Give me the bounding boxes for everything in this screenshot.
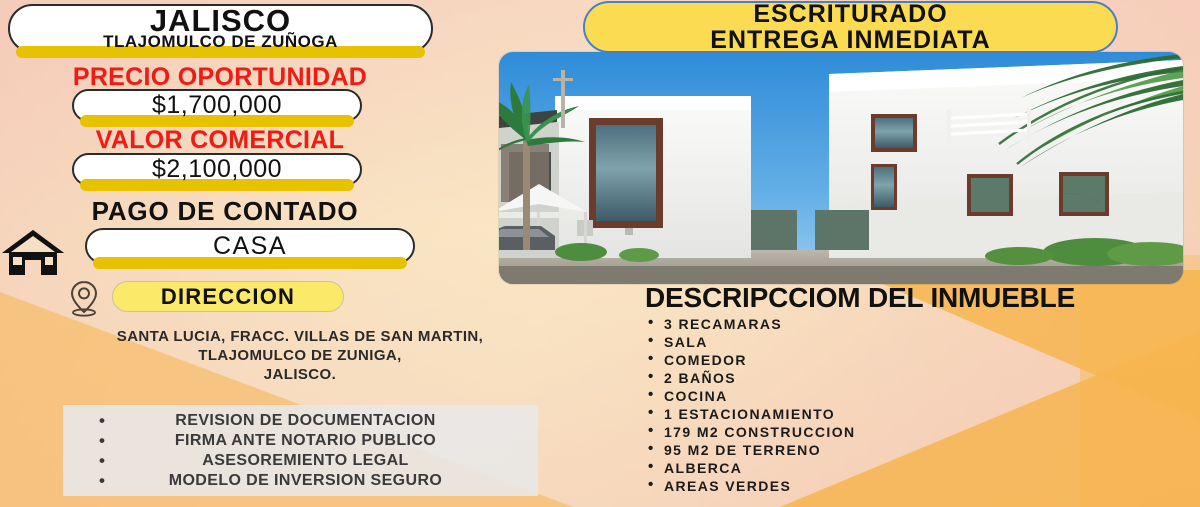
- commercial-price-value: $2,100,000: [152, 155, 282, 184]
- address-line-2: TLAJOMULCO DE ZUNIGA,: [10, 346, 590, 365]
- opportunity-price-label: PRECIO OPORTUNIDAD: [0, 63, 440, 92]
- list-item: SALA: [645, 333, 1190, 351]
- location-title-pill: JALISCO TLAJOMULCO DE ZUÑOGA: [8, 4, 433, 53]
- list-item: AREAS VERDES: [645, 477, 1190, 495]
- property-type-pill: CASA: [85, 228, 415, 264]
- property-photo: [499, 52, 1183, 284]
- municipality-name: TLAJOMULCO DE ZUÑOGA: [103, 33, 338, 50]
- address-text: SANTA LUCIA, FRACC. VILLAS DE SAN MARTIN…: [10, 327, 590, 385]
- list-item: 2 BAÑOS: [645, 369, 1190, 387]
- address-badge: DIRECCION: [112, 281, 344, 312]
- house-icon: [0, 226, 66, 278]
- status-badge-line-1: ESCRITURADO: [753, 1, 947, 27]
- list-item: COCINA: [645, 387, 1190, 405]
- list-item: 179 M2 CONSTRUCCION: [645, 423, 1190, 441]
- status-badge: ESCRITURADO ENTREGA INMEDIATA: [583, 1, 1118, 53]
- payment-terms-label: PAGO DE CONTADO: [0, 196, 450, 227]
- address-line-3: JALISCO.: [10, 365, 590, 384]
- commercial-price-pill: $2,100,000: [72, 153, 362, 186]
- address-line-1: SANTA LUCIA, FRACC. VILLAS DE SAN MARTIN…: [10, 327, 590, 346]
- opportunity-price-value: $1,700,000: [152, 91, 282, 120]
- description-features-list: 3 RECAMARAS SALA COMEDOR 2 BAÑOS COCINA …: [645, 315, 1190, 495]
- opportunity-price-pill: $1,700,000: [72, 89, 362, 122]
- property-type-label: CASA: [213, 232, 287, 261]
- status-badge-line-2: ENTREGA INMEDIATA: [710, 27, 990, 53]
- list-item: 95 M2 DE TERRENO: [645, 441, 1190, 459]
- location-pin-icon: [66, 279, 102, 317]
- list-item: 3 RECAMARAS: [645, 315, 1190, 333]
- commercial-value-label: VALOR COMERCIAL: [0, 126, 440, 155]
- list-item: 1 ESTACIONAMIENTO: [645, 405, 1190, 423]
- description-title: DESCRIPCCIOM DEL INMUEBLE: [645, 283, 1190, 312]
- address-badge-label: DIRECCION: [161, 284, 295, 310]
- left-info-column: JALISCO TLAJOMULCO DE ZUÑOGA PRECIO OPOR…: [0, 0, 470, 507]
- list-item: COMEDOR: [645, 351, 1190, 369]
- property-description-section: DESCRIPCCIOM DEL INMUEBLE 3 RECAMARAS SA…: [645, 283, 1190, 495]
- list-item: ALBERCA: [645, 459, 1190, 477]
